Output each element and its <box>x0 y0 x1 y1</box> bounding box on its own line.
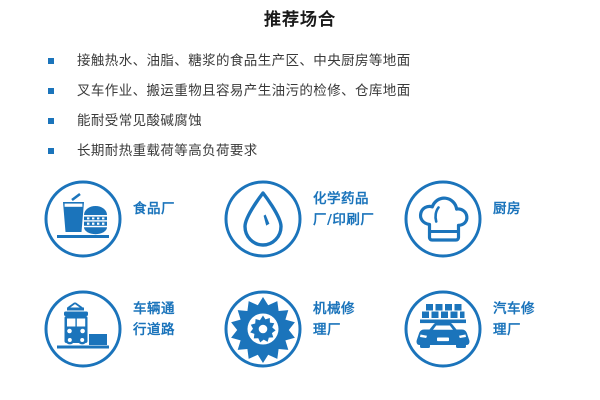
food-drink-burger-icon <box>42 178 124 260</box>
square-bullet-icon <box>48 88 54 94</box>
scenario-label-line2: 理厂 <box>313 320 355 341</box>
scenario-label-line1: 化学药品 <box>313 189 374 210</box>
scenario-label-line2: 厂/印刷厂 <box>313 210 374 231</box>
square-bullet-icon <box>48 58 54 64</box>
list-item-label: 能耐受常见酸碱腐蚀 <box>77 111 202 131</box>
scenario-label-line1: 车辆通 <box>133 299 175 320</box>
scenario-label: 厨房 <box>493 178 521 220</box>
list-item: 叉车作业、搬运重物且容易产生油污的检修、仓库地面 <box>48 76 568 106</box>
scenario-label-line1: 厨房 <box>493 199 521 220</box>
list-item: 接触热水、油脂、糖浆的食品生产区、中央厨房等地面 <box>48 46 568 76</box>
page-title: 推荐场合 <box>0 8 600 32</box>
water-drop-icon <box>222 178 304 260</box>
scenario-label: 化学药品 厂/印刷厂 <box>313 178 374 231</box>
scenario-bullet-list: 接触热水、油脂、糖浆的食品生产区、中央厨房等地面 叉车作业、搬运重物且容易产生油… <box>48 46 568 166</box>
list-item: 长期耐热重载荷等高负荷要求 <box>48 136 568 166</box>
scenario-item-auto-repair: 汽车修 理厂 <box>402 288 582 398</box>
list-item-label: 叉车作业、搬运重物且容易产生油污的检修、仓库地面 <box>77 81 411 101</box>
chef-hat-icon <box>402 178 484 260</box>
gear-icon <box>222 288 304 370</box>
scenario-icon-grid: 食品厂 化学药品 厂/印刷厂 <box>0 178 600 398</box>
scenario-label-line1: 食品厂 <box>133 199 175 220</box>
scenario-label: 汽车修 理厂 <box>493 288 535 341</box>
scenario-label: 食品厂 <box>133 178 175 220</box>
scenario-label-line1: 汽车修 <box>493 299 535 320</box>
list-item-label: 接触热水、油脂、糖浆的食品生产区、中央厨房等地面 <box>77 51 411 71</box>
list-item-label: 长期耐热重载荷等高负荷要求 <box>77 141 258 161</box>
scenario-item-machinery-repair: 机械修 理厂 <box>222 288 402 398</box>
scenario-item-food-factory: 食品厂 <box>42 178 222 288</box>
scenario-item-chemical-printing-factory: 化学药品 厂/印刷厂 <box>222 178 402 288</box>
scenario-item-vehicle-road: 车辆通 行道路 <box>42 288 222 398</box>
square-bullet-icon <box>48 148 54 154</box>
recommended-scenarios-page: 推荐场合 接触热水、油脂、糖浆的食品生产区、中央厨房等地面 叉车作业、搬运重物且… <box>0 0 600 400</box>
scenario-item-kitchen: 厨房 <box>402 178 582 288</box>
scenario-label: 机械修 理厂 <box>313 288 355 341</box>
train-platform-icon <box>42 288 124 370</box>
list-item: 能耐受常见酸碱腐蚀 <box>48 106 568 136</box>
car-wash-icon <box>402 288 484 370</box>
square-bullet-icon <box>48 118 54 124</box>
scenario-label-line2: 理厂 <box>493 320 535 341</box>
scenario-label-line2: 行道路 <box>133 320 175 341</box>
scenario-label: 车辆通 行道路 <box>133 288 175 341</box>
scenario-label-line1: 机械修 <box>313 299 355 320</box>
